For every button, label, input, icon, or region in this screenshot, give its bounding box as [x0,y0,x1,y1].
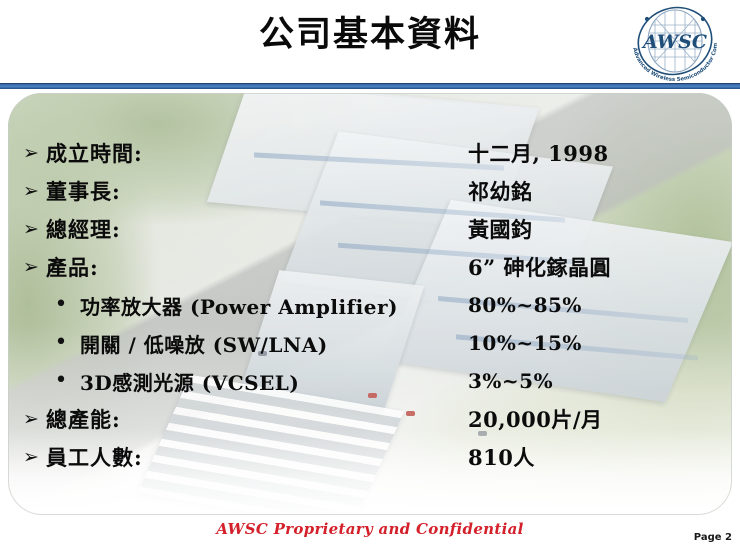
arrow-bullet-icon: ➢ [20,438,42,476]
bullet-value: 黃國鈞 [468,214,533,244]
bullet-value: 20,000片/月 [468,404,603,434]
globe-logo-icon: AWSC Advanced Wireless Semiconductor Com… [625,3,725,81]
bullet-value: 80%~85% [468,293,582,317]
dot-bullet-icon: • [52,363,70,399]
dot-bullet-icon: • [52,287,70,323]
arrow-bullet-icon: ➢ [20,134,42,172]
bullet-label: 產品: [46,252,99,282]
bullet-row: ➢員工人數:810人 [0,438,740,476]
bullet-label: 總產能: [46,404,121,434]
bullet-list: ➢成立時間:十二月, 1998➢董事長:祁幼銘➢總經理:黃國鈞➢產品:6” 砷化… [0,134,740,476]
bullet-value: 十二月, 1998 [468,138,609,168]
bullet-row: ➢總產能:20,000片/月 [0,400,740,438]
bullet-row: •功率放大器 (Power Amplifier)80%~85% [0,286,740,324]
slide-header: 公司基本資料 [0,0,740,84]
header-divider-rule [0,83,740,89]
bullet-row: ➢成立時間:十二月, 1998 [0,134,740,172]
bullet-value: 3%~5% [468,369,553,393]
bullet-row: ➢產品:6” 砷化鎵晶圓 [0,248,740,286]
bullet-label: 董事長: [46,176,121,206]
bullet-value: 6” 砷化鎵晶圓 [468,252,611,282]
bullet-value: 10%~15% [468,331,582,355]
bullet-row: ➢董事長:祁幼銘 [0,172,740,210]
bullet-row: ➢總經理:黃國鈞 [0,210,740,248]
slide-root: 公司基本資料 [0,0,740,555]
page-number: Page 2 [694,532,732,543]
arrow-bullet-icon: ➢ [20,400,42,438]
arrow-bullet-icon: ➢ [20,210,42,248]
dot-bullet-icon: • [52,325,70,361]
bullet-label: 3D感測光源 (VCSEL) [80,367,299,396]
bullet-label: 總經理: [46,214,121,244]
bullet-label: 開關 / 低噪放 (SW/LNA) [80,329,328,358]
bullet-label: 員工人數: [46,442,143,472]
awsc-logo: AWSC Advanced Wireless Semiconductor Com… [625,3,725,81]
bullet-row: •3D感測光源 (VCSEL)3%~5% [0,362,740,400]
arrow-bullet-icon: ➢ [20,172,42,210]
bullet-row: •開關 / 低噪放 (SW/LNA)10%~15% [0,324,740,362]
logo-acronym: AWSC [641,31,707,53]
confidentiality-footer: AWSC Proprietary and Confidential [0,520,740,538]
bullet-value: 810人 [468,442,535,472]
bullet-value: 祁幼銘 [468,176,533,206]
arrow-bullet-icon: ➢ [20,248,42,286]
bullet-label: 成立時間: [46,138,143,168]
bullet-label: 功率放大器 (Power Amplifier) [80,291,398,320]
